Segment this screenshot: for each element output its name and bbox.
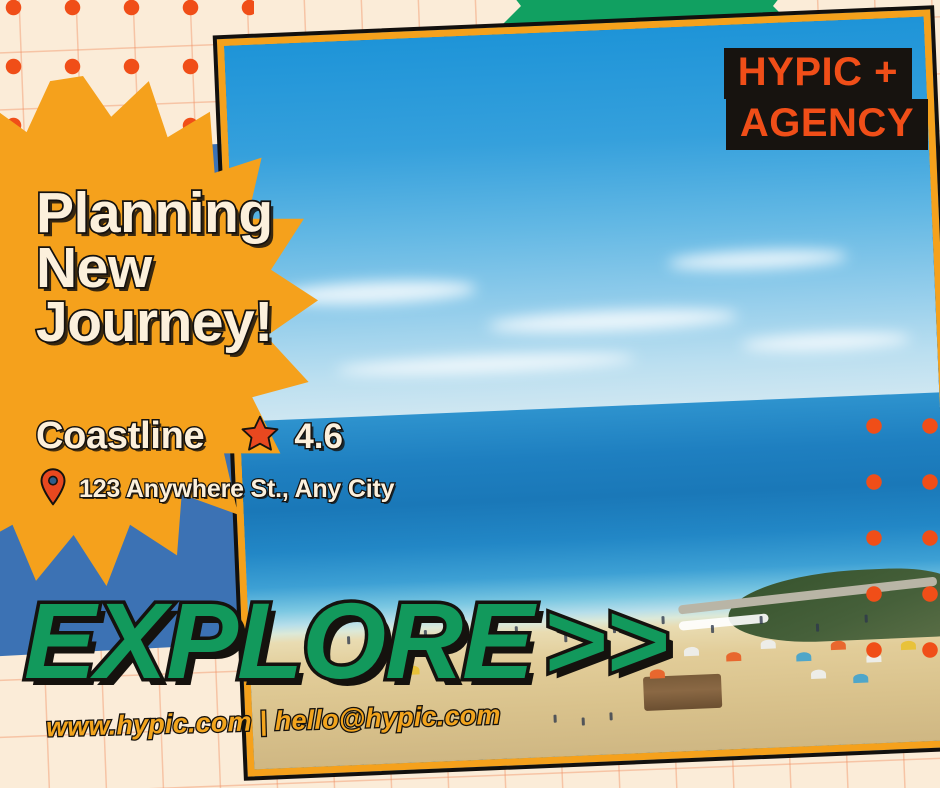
badge-line-2: AGENCY xyxy=(726,99,928,150)
page-title: Planning New Journey! xyxy=(36,186,273,350)
address-row: 123 Anywhere St., Any City xyxy=(38,468,394,511)
location-pin-icon xyxy=(38,468,68,511)
star-icon xyxy=(240,414,280,459)
rating-value: 4.6 xyxy=(294,417,343,457)
subtitle-label: Coastline xyxy=(36,415,204,458)
coastline-rating-row: Coastline 4.6 xyxy=(36,414,343,459)
explore-label: EXPLORE xyxy=(24,578,533,703)
chevron-double-right-icon: >> xyxy=(543,578,667,703)
explore-cta[interactable]: EXPLORE >> xyxy=(24,578,667,703)
badge-line-1: HYPIC + xyxy=(724,48,912,99)
address-label: 123 Anywhere St., Any City xyxy=(79,475,394,504)
poster-canvas: Planning New Journey! Coastline 4.6 123 … xyxy=(0,0,940,788)
dot-pattern-right xyxy=(846,398,940,698)
agency-badge: HYPIC + AGENCY xyxy=(724,48,928,150)
